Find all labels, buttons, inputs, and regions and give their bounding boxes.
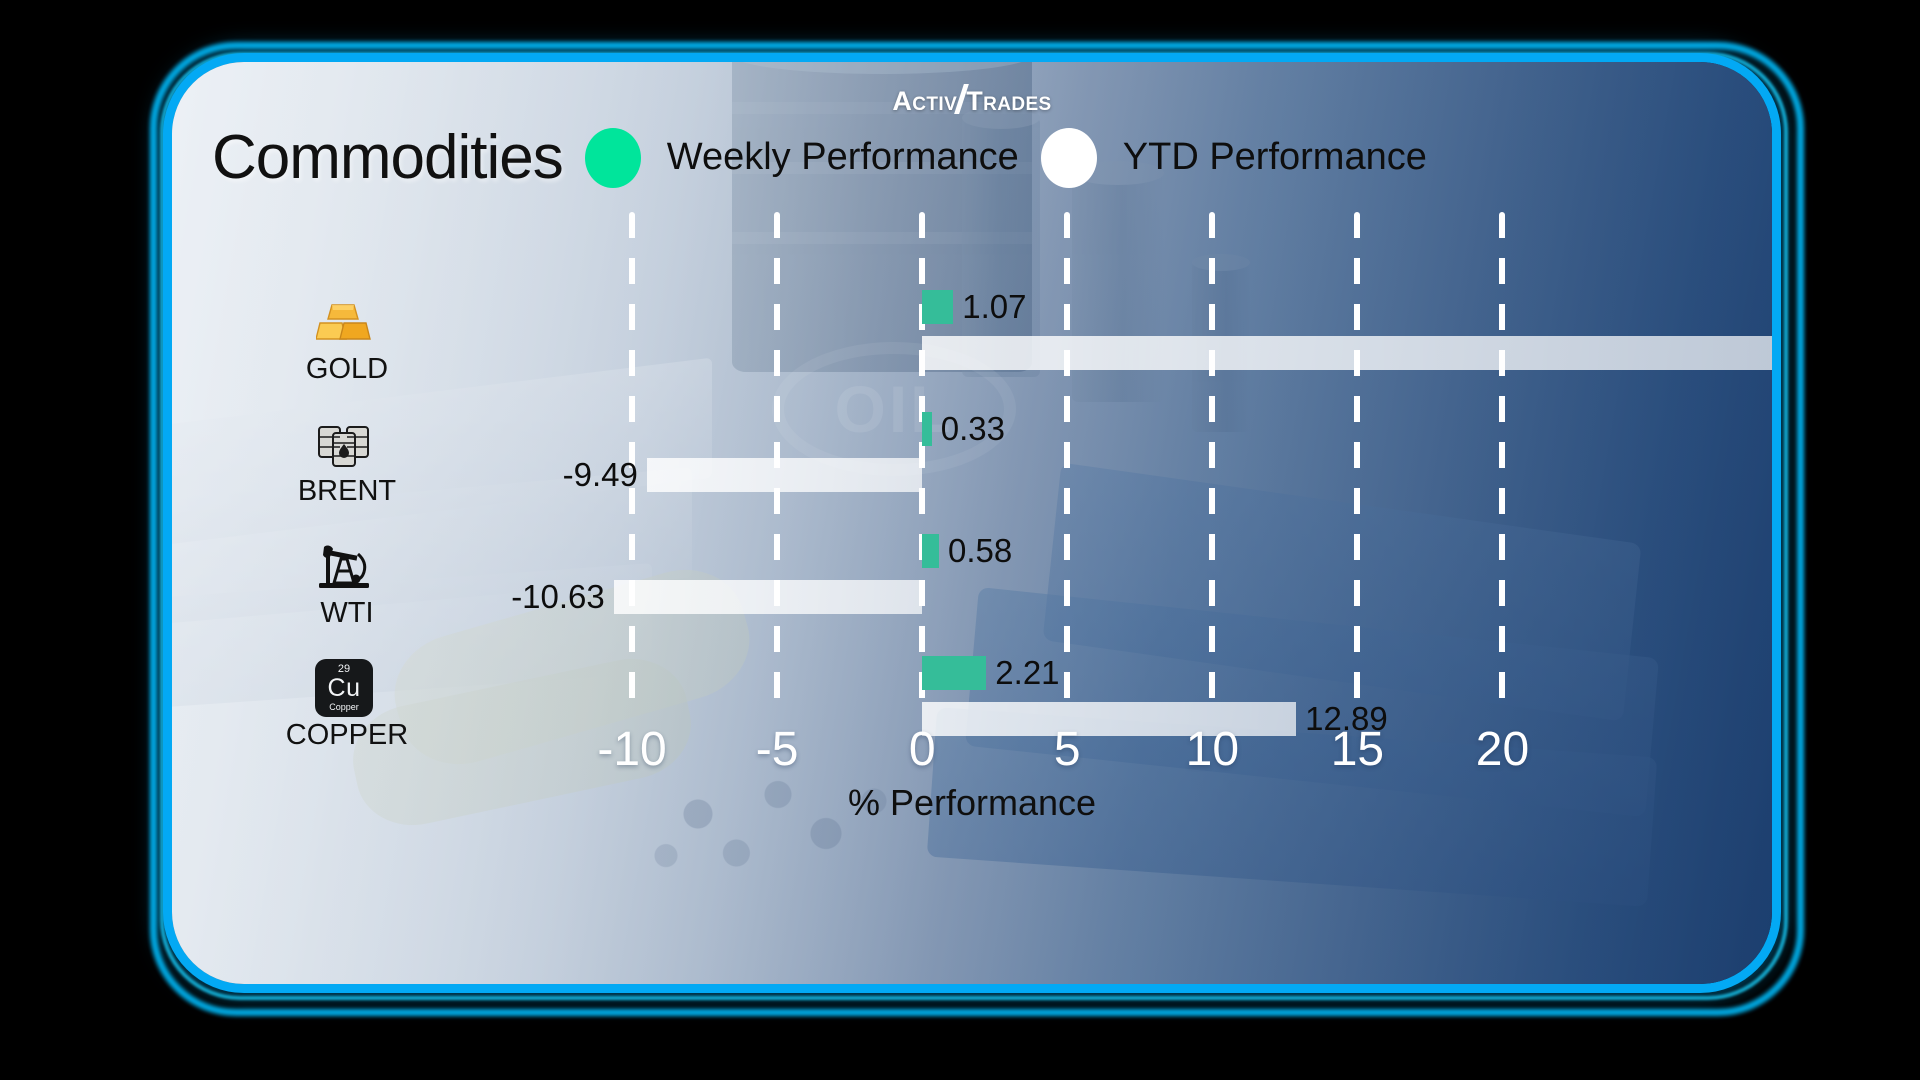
- category-label-wti: WTI: [232, 597, 462, 630]
- weekly-bar-wti: [922, 534, 939, 568]
- gridline-10: [1209, 212, 1215, 712]
- legend-label-ytd: YTD Performance: [1123, 136, 1427, 179]
- weekly-value-gold: 1.07: [962, 290, 1026, 324]
- gold-bars-icon-wrapper: [312, 292, 376, 352]
- weekly-value-brent: 0.33: [941, 412, 1005, 446]
- ytd-bar-brent: [647, 458, 922, 492]
- category-label-brent: BRENT: [232, 475, 462, 508]
- legend-dot-ytd: [1041, 128, 1097, 188]
- activtrades-logo: ActivTrades: [172, 84, 1772, 117]
- ytd-bar-copper: [922, 702, 1296, 736]
- tick-label-5: 5: [1054, 722, 1081, 777]
- tick-label-10: 10: [1186, 722, 1239, 777]
- oil-drums-icon-wrapper: [312, 414, 376, 474]
- category-label-gold: GOLD: [232, 353, 462, 386]
- gridline-5: [1064, 212, 1070, 712]
- copper-tile-icon-wrapper: 29CuCopper: [312, 658, 376, 718]
- tick-label-0: 0: [909, 722, 936, 777]
- tick-label--10: -10: [597, 722, 666, 777]
- gridline-20: [1499, 212, 1505, 712]
- logo-trades: Trades: [966, 86, 1051, 116]
- weekly-bar-copper: [922, 656, 986, 690]
- weekly-value-copper: 2.21: [995, 656, 1059, 690]
- oil-pump-icon-wrapper: [312, 536, 376, 596]
- weekly-bar-brent: [922, 412, 932, 446]
- ytd-value-wti: -10.63: [511, 580, 605, 614]
- tick-label-20: 20: [1476, 722, 1529, 777]
- legend-dot-weekly: [585, 128, 641, 188]
- oil-drums-icon: [316, 419, 372, 469]
- plot-area: GOLD1.0729.89BRENT0.33-9.49WTI0.58-10.63…: [172, 62, 1772, 984]
- ytd-bar-wti: [614, 580, 922, 614]
- screenshot-root: OIL ActivTrades Commodities Weekly Perfo…: [0, 0, 1920, 1080]
- weekly-bar-gold: [922, 290, 953, 324]
- ytd-bar-gold: [922, 336, 1772, 370]
- ytd-value-brent: -9.49: [563, 458, 638, 492]
- chart-card: OIL ActivTrades Commodities Weekly Perfo…: [172, 62, 1772, 984]
- oil-pump-icon: [315, 541, 373, 591]
- gold-bars-icon: [316, 301, 372, 343]
- tick-label-15: 15: [1331, 722, 1384, 777]
- tick-label--5: -5: [756, 722, 799, 777]
- axis-title: % Performance: [172, 782, 1772, 824]
- copper-tile-icon: 29CuCopper: [315, 659, 373, 717]
- gridline-15: [1354, 212, 1360, 712]
- chart-header: Commodities Weekly Performance YTD Perfo…: [172, 122, 1772, 193]
- category-label-copper: COPPER: [232, 719, 462, 752]
- page-title: Commodities: [212, 122, 563, 193]
- weekly-value-wti: 0.58: [948, 534, 1012, 568]
- logo-activ: Activ: [892, 86, 957, 116]
- legend-label-weekly: Weekly Performance: [667, 136, 1019, 179]
